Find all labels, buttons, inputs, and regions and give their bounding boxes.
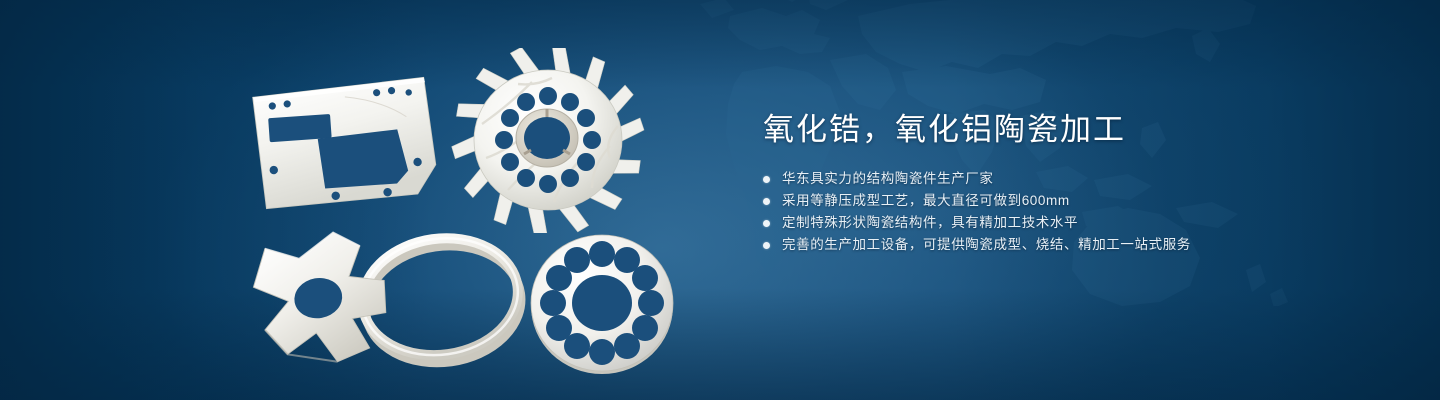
- bullet-dot-icon: [763, 220, 770, 227]
- list-item: 定制特殊形状陶瓷结构件，具有精加工技术水平: [763, 212, 1383, 234]
- list-item-label: 华东具实力的结构陶瓷件生产厂家: [782, 168, 994, 190]
- feature-list: 华东具实力的结构陶瓷件生产厂家 采用等静压成型工艺，最大直径可做到600mm 定…: [763, 168, 1383, 256]
- ceramic-disc: [520, 225, 685, 380]
- list-item-label: 完善的生产加工设备，可提供陶瓷成型、烧结、精加工一站式服务: [782, 234, 1191, 256]
- list-item-label: 定制特殊形状陶瓷结构件，具有精加工技术水平: [782, 212, 1078, 234]
- bullet-dot-icon: [763, 198, 770, 205]
- list-item: 采用等静压成型工艺，最大直径可做到600mm: [763, 190, 1383, 212]
- ceramic-cross: [248, 225, 423, 365]
- banner-copy: 氧化锆，氧化铝陶瓷加工 华东具实力的结构陶瓷件生产厂家 采用等静压成型工艺，最大…: [763, 110, 1383, 256]
- ceramic-rotor: [448, 48, 648, 233]
- bullet-dot-icon: [763, 176, 770, 183]
- list-item-label: 采用等静压成型工艺，最大直径可做到600mm: [782, 190, 1070, 212]
- bullet-dot-icon: [763, 242, 770, 249]
- hero-banner: 氧化锆，氧化铝陶瓷加工 华东具实力的结构陶瓷件生产厂家 采用等静压成型工艺，最大…: [0, 0, 1440, 400]
- page-title: 氧化锆，氧化铝陶瓷加工: [763, 110, 1383, 150]
- ceramic-plate: [248, 75, 443, 210]
- list-item: 华东具实力的结构陶瓷件生产厂家: [763, 168, 1383, 190]
- list-item: 完善的生产加工设备，可提供陶瓷成型、烧结、精加工一站式服务: [763, 234, 1383, 256]
- product-photo-group: [230, 40, 700, 380]
